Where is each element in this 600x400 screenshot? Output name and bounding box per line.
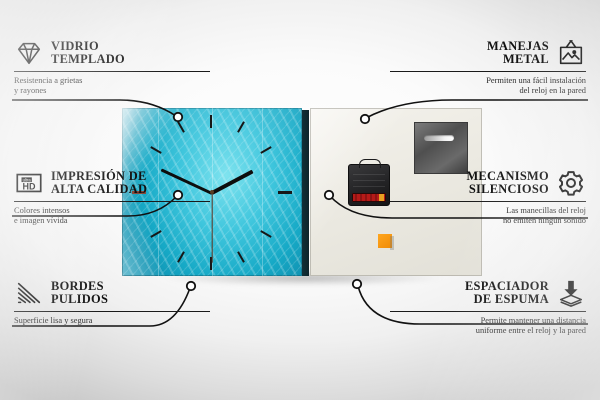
clock-tick — [210, 115, 212, 128]
feature-description: Las manecillas del reloj no emiten ningú… — [390, 206, 586, 227]
feature-rule — [14, 71, 210, 72]
feature-rule — [14, 201, 210, 202]
feature-title: MANEJAS METAL — [487, 40, 549, 67]
clock-center-hub — [210, 190, 214, 194]
gear-icon — [556, 168, 586, 198]
feature-rule — [390, 201, 586, 202]
hanger-slot — [424, 135, 454, 141]
diamond-icon — [14, 38, 44, 68]
feature-description: Colores intensos e imagen vívida — [14, 206, 210, 227]
feature-tempered-glass: VIDRIO TEMPLADO Resistencia a grietas y … — [14, 38, 210, 97]
feature-title: IMPRESIÓN DE ALTA CALIDAD — [51, 170, 147, 197]
infographic-canvas: VIDRIO TEMPLADO Resistencia a grietas y … — [0, 0, 600, 400]
picture-hanger-icon — [556, 38, 586, 68]
polished-edges-icon — [14, 278, 44, 308]
feature-description: Superficie lisa y segura — [14, 316, 210, 326]
feature-foam-spacer: ESPACIADOR DE ESPUMA Permite mantener un… — [390, 278, 586, 337]
clock-tick — [278, 191, 292, 194]
mechanism-detail-line — [353, 180, 385, 181]
feature-title: MECANISMO SILENCIOSO — [466, 170, 549, 197]
feature-description: Permiten una fácil instalación del reloj… — [390, 76, 586, 97]
feature-description: Permite mantener una distancia uniforme … — [390, 316, 586, 337]
mechanism-detail-line — [353, 174, 385, 175]
feature-title: ESPACIADOR DE ESPUMA — [465, 280, 549, 307]
clock-second-hand — [211, 193, 212, 263]
metal-hanger-plate — [414, 122, 468, 174]
clock-side-edge — [302, 110, 309, 276]
feature-header: VIDRIO TEMPLADO — [14, 38, 210, 68]
feature-header: MECANISMO SILENCIOSO — [390, 168, 586, 198]
ultra-hd-icon: ultra HD — [14, 168, 44, 198]
feature-rule — [390, 71, 586, 72]
feature-header: MANEJAS METAL — [390, 38, 586, 68]
feature-silent-mechanism: MECANISMO SILENCIOSO Las manecillas del … — [390, 168, 586, 227]
feature-hd-print: ultra HD IMPRESIÓN DE ALTA CALIDAD Color… — [14, 168, 210, 227]
feature-header: ESPACIADOR DE ESPUMA — [390, 278, 586, 308]
feature-description: Resistencia a grietas y rayones — [14, 76, 210, 97]
foam-spacer-pad — [378, 234, 392, 248]
feature-polished-edges: BORDES PULIDOS Superficie lisa y segura — [14, 278, 210, 326]
feature-title: BORDES PULIDOS — [51, 280, 108, 307]
mechanism-detail-line — [353, 186, 385, 187]
feature-rule — [14, 311, 210, 312]
clock-movement-mechanism — [348, 164, 390, 206]
feature-header: ultra HD IMPRESIÓN DE ALTA CALIDAD — [14, 168, 210, 198]
battery — [352, 193, 386, 202]
mechanism-bail — [359, 159, 381, 168]
feature-metal-hooks: MANEJAS METAL Permiten una fácil instala… — [390, 38, 586, 97]
feature-title: VIDRIO TEMPLADO — [51, 40, 125, 67]
glass-seam — [262, 108, 263, 276]
feature-header: BORDES PULIDOS — [14, 278, 210, 308]
arrow-down-layers-icon — [556, 278, 586, 308]
feature-rule — [390, 311, 586, 312]
svg-text:HD: HD — [23, 182, 36, 192]
